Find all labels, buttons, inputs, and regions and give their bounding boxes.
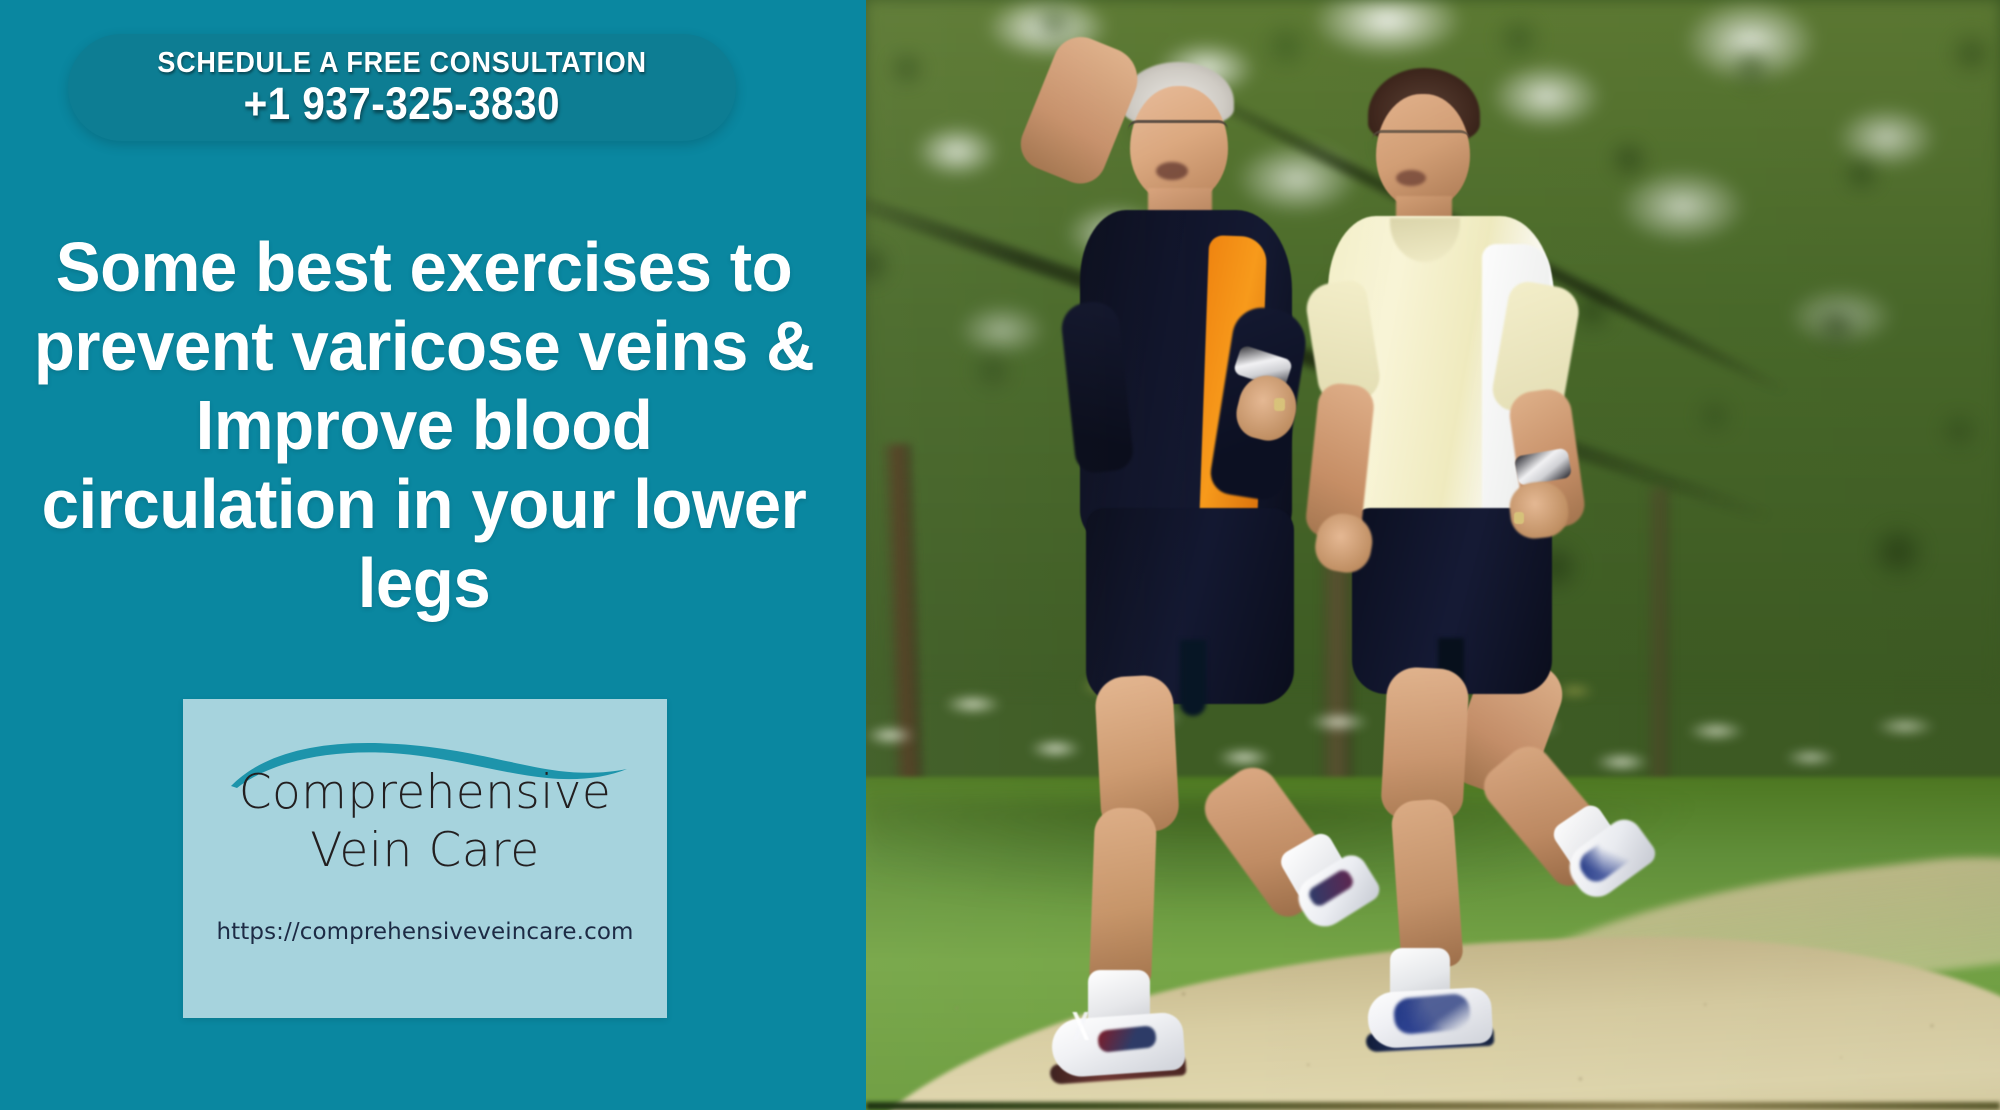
jogging-couple-photo <box>866 0 2000 1110</box>
man-shoe-laces <box>1058 1012 1108 1040</box>
woman-thigh-front <box>1380 666 1470 822</box>
woman-mouth <box>1396 170 1426 186</box>
logo-word-comprehensive: Comprehensive <box>183 769 667 816</box>
man-shorts-inseam <box>1180 640 1206 716</box>
left-content-panel: SCHEDULE A FREE CONSULTATION +1 937-325-… <box>0 0 866 1110</box>
banner-root: SCHEDULE A FREE CONSULTATION +1 937-325-… <box>0 0 2000 1110</box>
woman-head <box>1376 94 1470 208</box>
man-wedding-ring <box>1274 398 1285 411</box>
man-head <box>1130 86 1228 202</box>
woman-calf-front <box>1390 798 1464 970</box>
schedule-consultation-badge[interactable]: SCHEDULE A FREE CONSULTATION +1 937-325-… <box>68 34 736 141</box>
woman-ring <box>1514 512 1524 524</box>
man-mouth <box>1156 162 1188 180</box>
man-glasses <box>1128 120 1228 137</box>
woman-jogger <box>1298 68 1638 1068</box>
logo-word-vein-care: Vein Care <box>183 827 667 874</box>
photo-bottom-edge-strip <box>866 1102 2000 1110</box>
logo-lockup: Comprehensive Vein Care <box>183 737 667 887</box>
page-title: Some best exercises to prevent varicose … <box>30 228 817 623</box>
brand-logo-card[interactable]: Comprehensive Vein Care https://comprehe… <box>183 699 667 1018</box>
consultation-label: SCHEDULE A FREE CONSULTATION <box>157 48 646 78</box>
phone-number[interactable]: +1 937-325-3830 <box>244 79 560 129</box>
man-calf-front <box>1089 807 1157 991</box>
woman-glasses <box>1372 130 1470 148</box>
woman-shoe-front-blue-accent <box>1393 993 1472 1035</box>
website-url[interactable]: https://comprehensiveveincare.com <box>183 919 667 945</box>
